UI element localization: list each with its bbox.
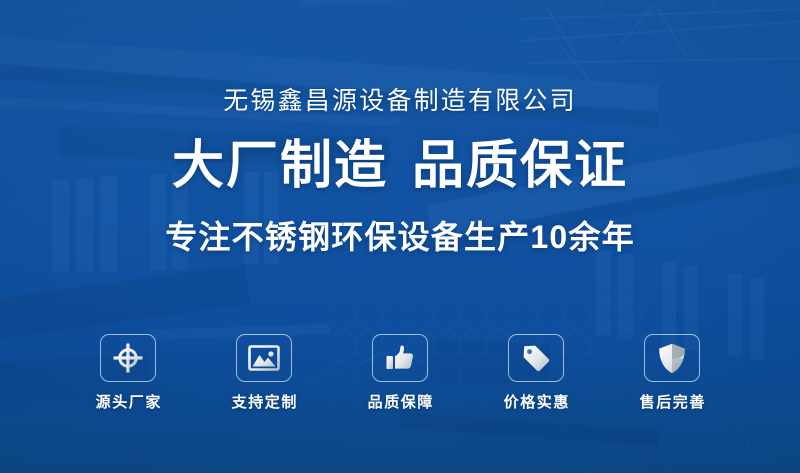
feature-label: 品质保障 — [366, 395, 434, 410]
feature-label: 价格实惠 — [502, 395, 570, 410]
shield-icon — [658, 343, 686, 374]
feature-list: 源头厂家 支持定制 — [0, 334, 800, 410]
picture-image-icon — [248, 344, 280, 372]
headline-part-2: 品质保证 — [412, 137, 628, 195]
icon-box[interactable] — [372, 334, 428, 382]
feature-item-quality-guarantee[interactable]: 品质保障 — [366, 334, 434, 410]
promo-banner: 无锡鑫昌源设备制造有限公司 大厂制造品质保证 专注不锈钢环保设备生产10余年 — [0, 0, 800, 473]
headline-part-1: 大厂制造 — [172, 137, 388, 195]
thumbs-up-icon — [385, 343, 415, 373]
company-name: 无锡鑫昌源设备制造有限公司 — [223, 89, 577, 114]
feature-item-affordable-price[interactable]: 价格实惠 — [502, 334, 570, 410]
feature-label: 支持定制 — [230, 395, 298, 410]
subheadline: 专注不锈钢环保设备生产10余年 — [165, 221, 635, 253]
crosshair-target-icon — [112, 342, 144, 374]
feature-label: 售后完善 — [638, 395, 706, 410]
icon-box[interactable] — [508, 334, 564, 382]
icon-box[interactable] — [236, 334, 292, 382]
headline: 大厂制造品质保证 — [172, 140, 628, 192]
price-tag-icon — [521, 343, 551, 373]
icon-box[interactable] — [644, 334, 700, 382]
feature-item-source-factory[interactable]: 源头厂家 — [94, 334, 162, 410]
feature-item-after-sales[interactable]: 售后完善 — [638, 334, 706, 410]
feature-item-custom-support[interactable]: 支持定制 — [230, 334, 298, 410]
icon-box[interactable] — [100, 334, 156, 382]
feature-label: 源头厂家 — [94, 395, 162, 410]
